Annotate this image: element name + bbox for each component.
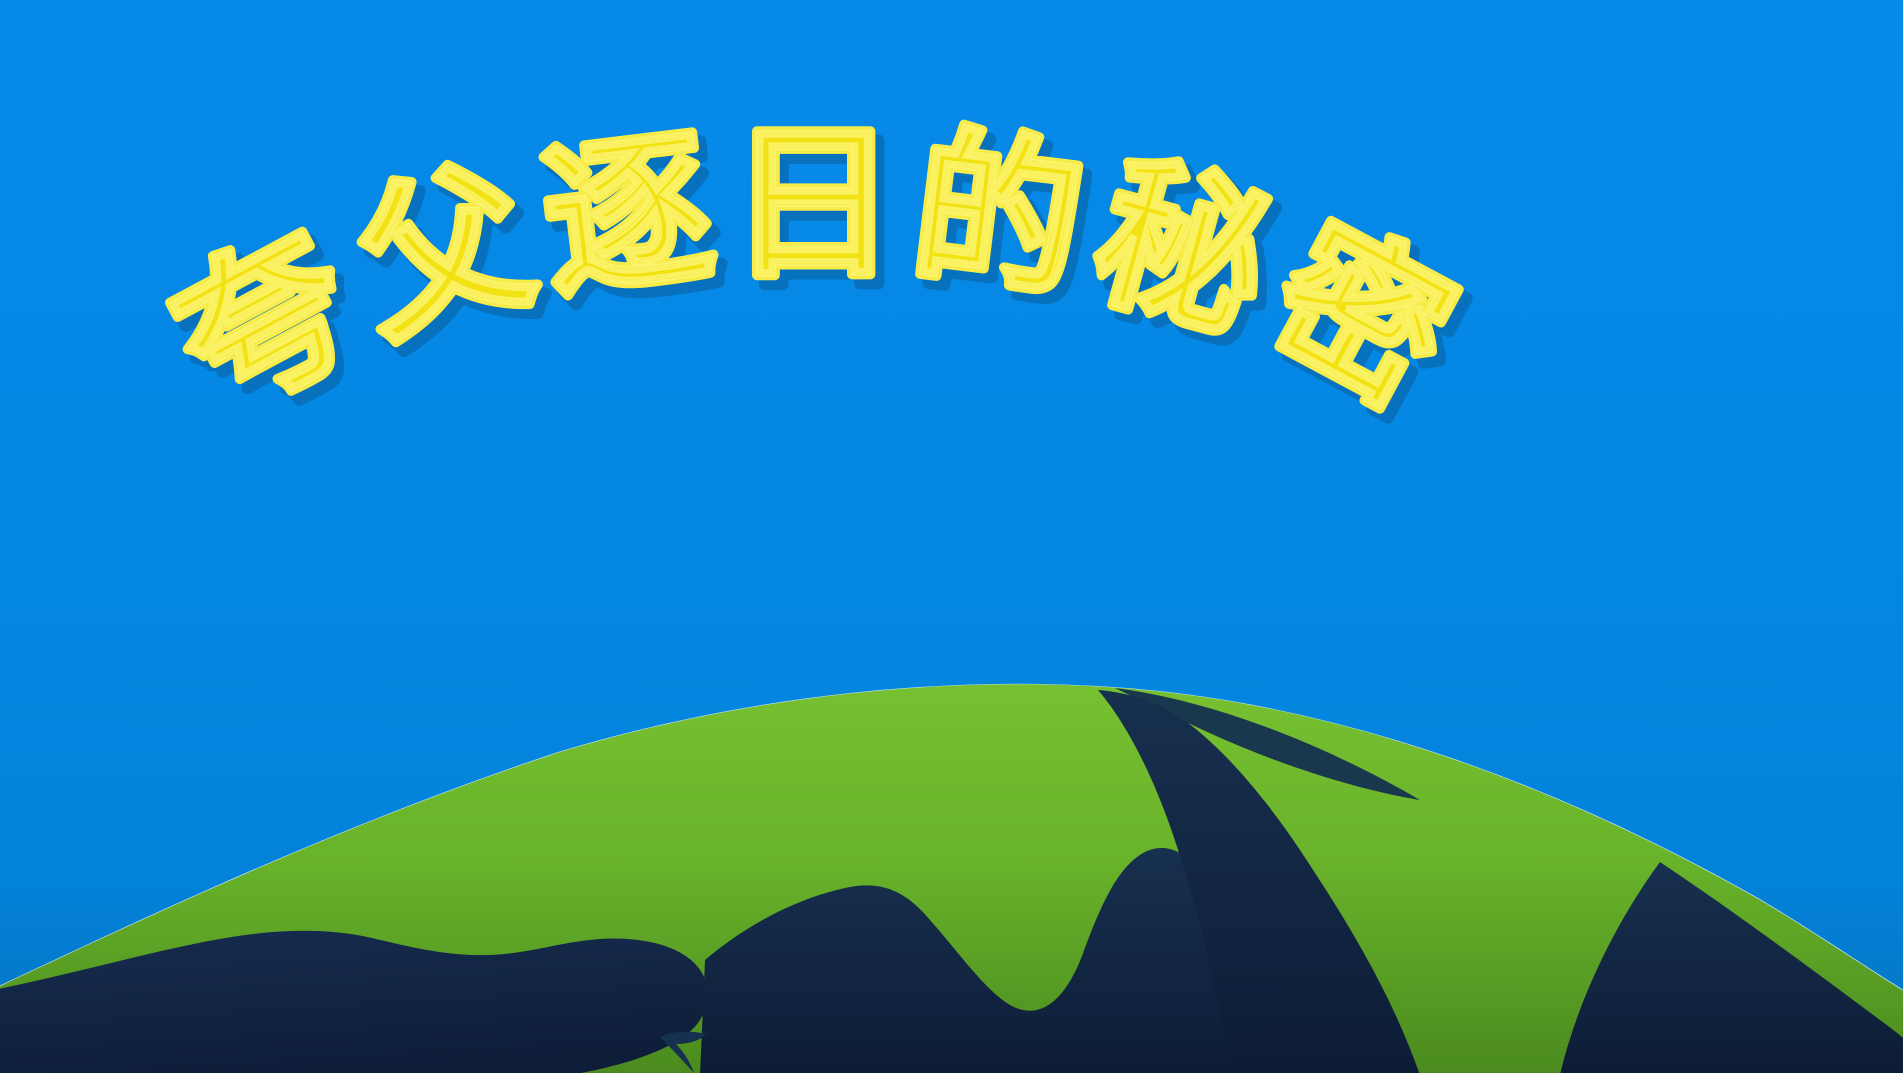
title-card-scene: 夸父逐日的秘密 夸父逐日的秘密 夸父逐日的秘密 [0, 0, 1903, 1073]
sky-background [0, 0, 1903, 1073]
